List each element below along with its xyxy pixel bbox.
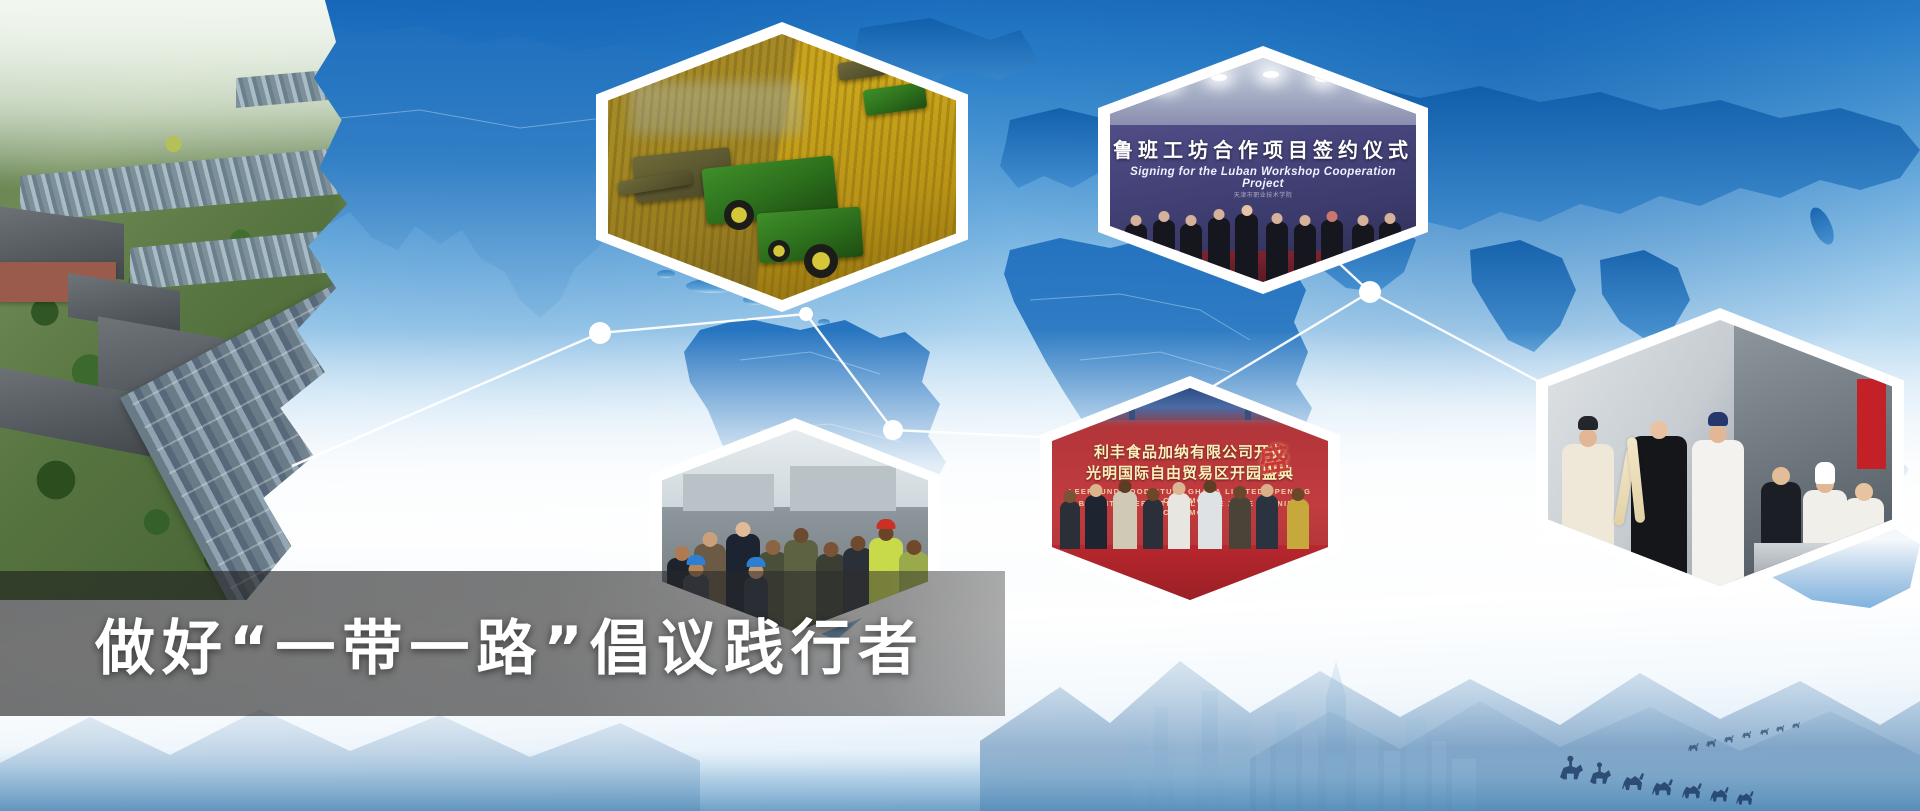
- culinary-kitchen-image: [1548, 320, 1892, 586]
- site-building-1: [683, 474, 773, 510]
- title-banner: 做好“一带一路”倡议践行者: [0, 571, 1005, 716]
- hexagon-luban-inner: 鲁班工坊合作项目签约仪式 Signing for the Luban Works…: [1110, 58, 1416, 282]
- luban-banner-chinese: 鲁班工坊合作项目签约仪式: [1110, 134, 1416, 163]
- leefound-ceremony-image: 利丰食品加纳有限公司开业 光明国际自由贸易区开园盛典 LEEFOUND FOOD…: [1052, 388, 1328, 600]
- site-building-2: [790, 466, 896, 510]
- china-flag-backdrop: [1857, 379, 1885, 469]
- harvester-wheel-2: [804, 244, 838, 278]
- hexagon-leefound-inner: 利丰食品加纳有限公司开业 光明国际自由贸易区开园盛典 LEEFOUND FOOD…: [1052, 388, 1328, 600]
- belt-and-road-banner: 鲁班工坊合作项目签约仪式 Signing for the Luban Works…: [0, 0, 1920, 811]
- stage-light-2: [1211, 74, 1227, 81]
- stage-light-4: [1315, 75, 1331, 82]
- harvester-wheel-3: [768, 240, 790, 262]
- luban-banner-subtitle: 天津市职业技术学院: [1110, 190, 1416, 199]
- luban-stage-image: 鲁班工坊合作项目签约仪式 Signing for the Luban Works…: [1110, 58, 1416, 282]
- luban-banner-english: Signing for the Luban Workshop Cooperati…: [1110, 166, 1416, 190]
- leefound-calligraphy-stamp: 盛: [1256, 433, 1292, 481]
- harvester-wheel-1: [724, 200, 754, 230]
- stage-light-3: [1263, 71, 1279, 78]
- page-title: 做好“一带一路”倡议践行者: [95, 600, 925, 687]
- hexagon-culinary-inner: [1548, 320, 1892, 586]
- hexagon-farm-inner: [608, 34, 956, 300]
